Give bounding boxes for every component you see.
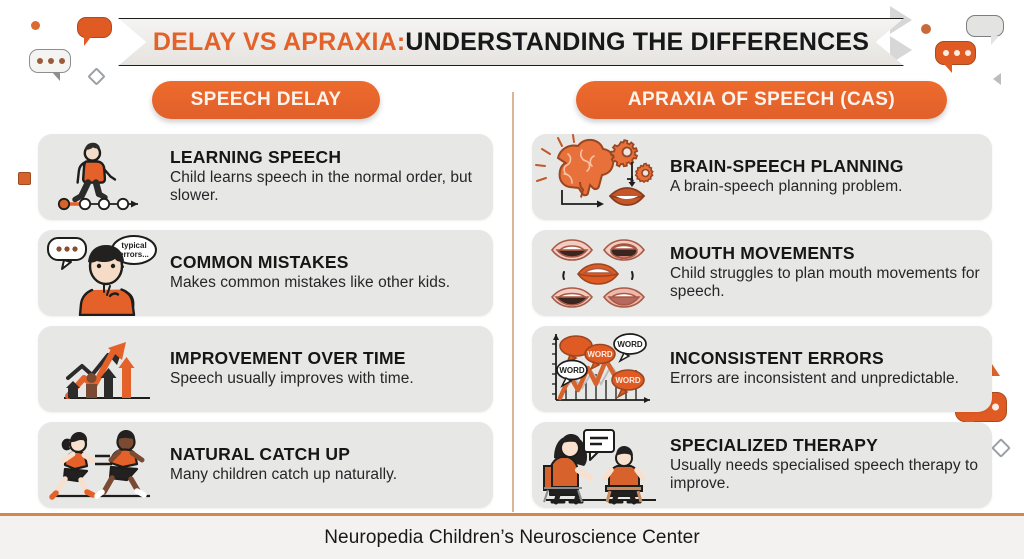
therapist-child-session-icon <box>532 422 670 508</box>
card-text: Errors are inconsistent and unpredictabl… <box>670 370 984 388</box>
grey-diamond-top-left <box>87 67 105 85</box>
card-title: IMPROVEMENT OVER TIME <box>170 349 485 369</box>
infographic-canvas: DELAY VS APRAXIA: UNDERSTANDING THE DIFF… <box>0 0 1024 559</box>
orange-filled-bubble-top-right <box>935 41 976 65</box>
card-common-mistakes[interactable]: typical errors... COMMON MISTAKES <box>38 230 493 316</box>
card-brain-speech-planning[interactable]: BRAIN-SPEECH PLANNING A brain-speech pla… <box>532 134 992 220</box>
card-text: Makes common mistakes like other kids. <box>170 274 485 292</box>
running-children-icon <box>38 422 170 508</box>
grey-diamond-right <box>991 438 1011 458</box>
growth-arrows-chart-icon <box>38 326 170 412</box>
card-title: NATURAL CATCH UP <box>170 445 485 465</box>
card-body: COMMON MISTAKES Makes common mistakes li… <box>170 253 493 292</box>
orange-square-left <box>18 172 31 185</box>
word-bubble-label: WORD <box>615 376 641 385</box>
page-title-highlight: DELAY VS APRAXIA: <box>153 28 406 57</box>
card-specialized-therapy[interactable]: SPECIALIZED THERAPY Usually needs specia… <box>532 422 992 508</box>
column-divider <box>512 92 514 512</box>
card-text: Speech usually improves with time. <box>170 370 485 388</box>
card-improvement-over-time[interactable]: IMPROVEMENT OVER TIME Speech usually imp… <box>38 326 493 412</box>
card-title: BRAIN-SPEECH PLANNING <box>670 157 984 177</box>
card-body: IMPROVEMENT OVER TIME Speech usually imp… <box>170 349 493 388</box>
thinking-child-speech-bubbles-icon: typical errors... <box>38 230 170 316</box>
card-title: MOUTH MOVEMENTS <box>670 244 984 264</box>
footer: Neuropedia Children’s Neuroscience Cente… <box>0 516 1024 559</box>
word-bubble-label: WORD <box>587 350 613 359</box>
card-text: Child struggles to plan mouth movements … <box>670 265 984 302</box>
grey-left-triangle-right <box>993 73 1001 85</box>
page-title-rest: UNDERSTANDING THE DIFFERENCES <box>405 28 869 57</box>
footer-text: Neuropedia Children’s Neuroscience Cente… <box>324 527 700 549</box>
card-body: BRAIN-SPEECH PLANNING A brain-speech pla… <box>670 157 992 196</box>
mouth-shapes-icon <box>532 230 670 316</box>
card-title: INCONSISTENT ERRORS <box>670 349 984 369</box>
card-title: SPECIALIZED THERAPY <box>670 436 984 456</box>
card-natural-catch-up[interactable]: NATURAL CATCH UP Many children catch up … <box>38 422 493 508</box>
grey-outline-bubble-top-right <box>966 15 1004 37</box>
card-inconsistent-errors[interactable]: WORD WORD WORD WORD <box>532 326 992 412</box>
card-mouth-movements[interactable]: MOUTH MOVEMENTS Child struggles to plan … <box>532 230 992 316</box>
speech-delay-column: LEARNING SPEECH Child learns speech in t… <box>38 134 493 518</box>
card-text: A brain-speech planning problem. <box>670 178 984 196</box>
card-text: Usually needs specialised speech therapy… <box>670 457 984 494</box>
card-body: INCONSISTENT ERRORS Errors are inconsist… <box>670 349 992 388</box>
card-title: COMMON MISTAKES <box>170 253 485 273</box>
walking-child-timeline-icon <box>38 134 170 220</box>
page-title-banner: DELAY VS APRAXIA: UNDERSTANDING THE DIFF… <box>118 18 904 66</box>
word-bubble-label: WORD <box>559 366 585 375</box>
page-title: DELAY VS APRAXIA: UNDERSTANDING THE DIFF… <box>118 18 904 66</box>
column-header-speech-delay[interactable]: SPEECH DELAY <box>152 81 380 119</box>
word-bubble-label: WORD <box>617 340 643 349</box>
card-body: SPECIALIZED THERAPY Usually needs specia… <box>670 436 992 493</box>
orange-dot-top-left <box>31 21 40 30</box>
bubble-label-line1: typical <box>121 241 146 250</box>
grey-outline-bubble-top-left <box>29 49 71 73</box>
apraxia-column: BRAIN-SPEECH PLANNING A brain-speech pla… <box>532 134 992 518</box>
card-body: MOUTH MOVEMENTS Child struggles to plan … <box>670 244 992 301</box>
orange-filled-bubble-top-left <box>77 17 112 38</box>
bubble-label-line2: errors... <box>119 250 149 259</box>
card-text: Child learns speech in the normal order,… <box>170 169 485 206</box>
card-body: NATURAL CATCH UP Many children catch up … <box>170 445 493 484</box>
card-body: LEARNING SPEECH Child learns speech in t… <box>170 148 493 205</box>
column-header-apraxia-of-speech[interactable]: APRAXIA OF SPEECH (CAS) <box>576 81 947 119</box>
card-learning-speech[interactable]: LEARNING SPEECH Child learns speech in t… <box>38 134 493 220</box>
erratic-chart-word-bubbles-icon: WORD WORD WORD WORD <box>532 326 670 412</box>
brain-gears-lips-icon <box>532 134 670 220</box>
card-text: Many children catch up naturally. <box>170 466 485 484</box>
card-title: LEARNING SPEECH <box>170 148 485 168</box>
orange-dot-top-right <box>921 24 931 34</box>
